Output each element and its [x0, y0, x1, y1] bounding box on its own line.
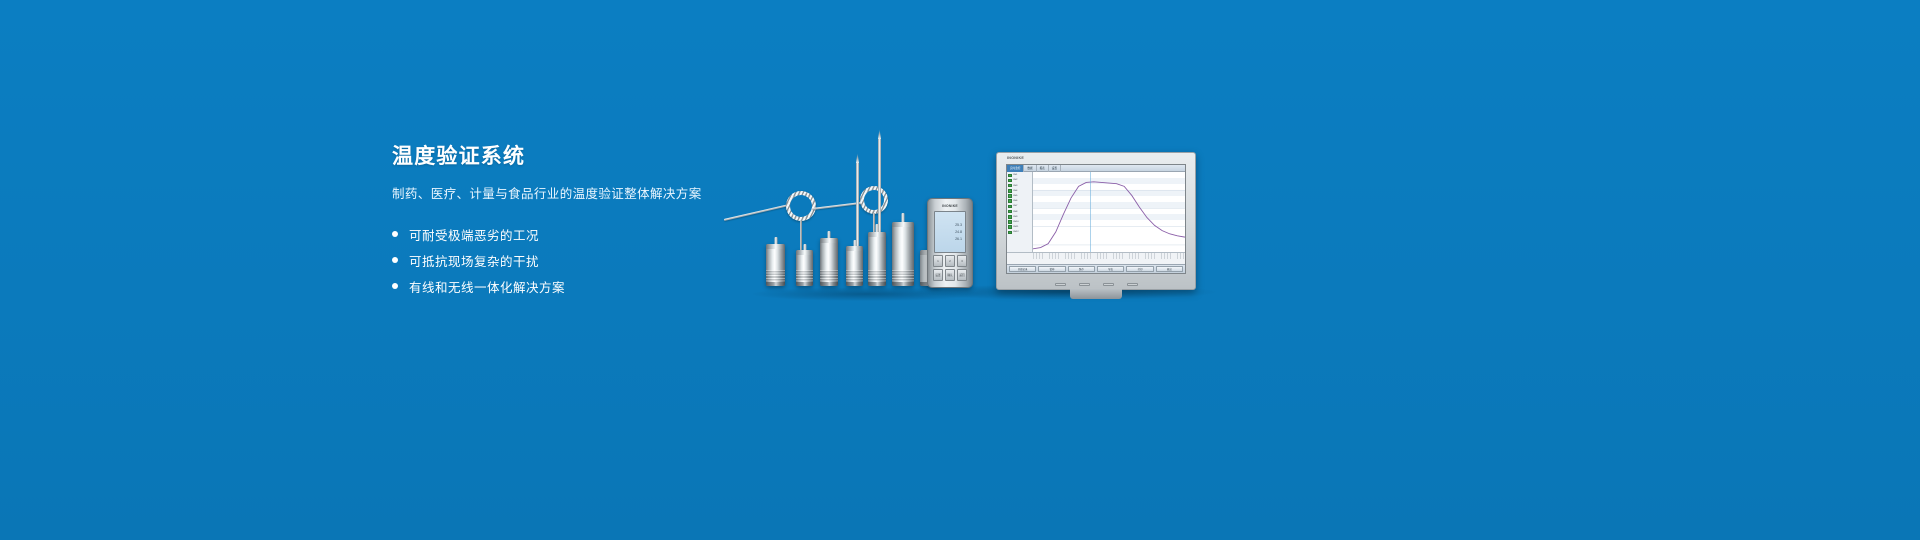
- list-item-label: 可耐受极端恶劣的工况: [409, 225, 539, 244]
- channel-label: CH11: [1013, 226, 1018, 228]
- panel-button[interactable]: [1055, 283, 1066, 286]
- channel-indicator: [1008, 189, 1012, 193]
- reader-key[interactable]: 3: [957, 255, 967, 267]
- list-item[interactable]: CH7: [1008, 204, 1031, 209]
- reader-key[interactable]: 确认: [945, 269, 955, 281]
- save-button[interactable]: 保存: [1068, 266, 1095, 272]
- list-item-label: 有线和无线一体化解决方案: [409, 277, 565, 296]
- export-button[interactable]: 导出: [1097, 266, 1124, 272]
- reader-key[interactable]: 2: [945, 255, 955, 267]
- software-body: CH1 CH2 CH3 CH4 CH5: [1007, 172, 1185, 252]
- bullet-dot-icon: [392, 283, 398, 289]
- bullet-dot-icon: [392, 257, 398, 263]
- channel-indicator: [1008, 179, 1012, 183]
- channel-label: CH6: [1013, 200, 1017, 202]
- list-item[interactable]: CH3: [1008, 183, 1031, 188]
- panel-hardware-buttons[interactable]: [997, 283, 1195, 286]
- chart-plot-area: [1033, 172, 1185, 263]
- reader-brand: INONIKE: [928, 204, 972, 208]
- reader-key[interactable]: 返回: [957, 269, 967, 281]
- list-item[interactable]: CH5: [1008, 194, 1031, 199]
- channel-indicator: [1008, 184, 1012, 188]
- channel-label: CH8: [1013, 211, 1017, 213]
- list-item[interactable]: CH1: [1008, 173, 1031, 178]
- pause-button[interactable]: 暂停: [1038, 266, 1065, 272]
- channel-indicator: [1008, 194, 1012, 198]
- tab-data[interactable]: 数据: [1024, 165, 1036, 172]
- list-item[interactable]: CH2: [1008, 178, 1031, 183]
- list-item[interactable]: CH6: [1008, 199, 1031, 204]
- panel-brand: INONIKE: [1007, 156, 1024, 160]
- product-photo-group: INONIKE 25.3 24.8 26.1 1 2 3 设置 确认 返回 IN…: [700, 120, 1220, 320]
- channel-indicator: [1008, 231, 1012, 235]
- channel-indicator: [1008, 210, 1012, 214]
- axis-ticks: [1033, 253, 1185, 259]
- list-item[interactable]: CH12: [1008, 230, 1031, 235]
- list-item[interactable]: CH11: [1008, 225, 1031, 230]
- chart-timeaxis: [1007, 252, 1185, 264]
- channel-label: CH1: [1013, 174, 1017, 176]
- promo-banner: 温度验证系统 制药、医疗、计量与食品行业的温度验证整体解决方案 可耐受极端恶劣的…: [0, 0, 1920, 540]
- tab-report[interactable]: 报表: [1037, 165, 1049, 172]
- bullet-dot-icon: [392, 231, 398, 237]
- software-screen[interactable]: 实时监控 数据 报表 设置 CH1 CH2: [1006, 164, 1186, 274]
- channel-indicator: [1008, 220, 1012, 224]
- list-item[interactable]: CH4: [1008, 189, 1031, 194]
- channel-label: CH12: [1013, 231, 1019, 233]
- reader-reading: 25.3: [938, 223, 962, 227]
- panel-pc[interactable]: INONIKE 实时监控 数据 报表 设置 CH1 CH2: [996, 152, 1196, 290]
- channel-label: CH10: [1013, 221, 1019, 223]
- reader-reading: 26.1: [938, 237, 962, 241]
- data-logger: [892, 222, 914, 286]
- handheld-reader[interactable]: INONIKE 25.3 24.8 26.1 1 2 3 设置 确认 返回: [927, 198, 973, 288]
- channel-indicator: [1008, 215, 1012, 219]
- temperature-chart[interactable]: [1033, 172, 1185, 252]
- list-item[interactable]: CH8: [1008, 209, 1031, 214]
- software-tabbar[interactable]: 实时监控 数据 报表 设置: [1007, 165, 1185, 172]
- data-logger: [868, 232, 886, 286]
- software-toolbar[interactable]: 开始记录 暂停 保存 导出 打印 退出: [1007, 264, 1185, 273]
- channel-label: CH5: [1013, 195, 1017, 197]
- list-item-label: 可抵抗现场复杂的干扰: [409, 251, 539, 270]
- panel-button[interactable]: [1127, 283, 1138, 286]
- channel-label: CH3: [1013, 185, 1017, 187]
- channel-label: CH2: [1013, 179, 1017, 181]
- panel-stand: [1070, 289, 1122, 299]
- channel-label: CH4: [1013, 190, 1017, 192]
- channel-indicator: [1008, 205, 1012, 209]
- channel-indicator: [1008, 225, 1012, 229]
- reader-keypad[interactable]: 1 2 3 设置 确认 返回: [933, 255, 967, 281]
- data-logger: [796, 250, 813, 286]
- reader-lcd-display: 25.3 24.8 26.1: [934, 211, 966, 253]
- list-item[interactable]: CH10: [1008, 220, 1031, 225]
- panel-button[interactable]: [1103, 283, 1114, 286]
- tab-settings[interactable]: 设置: [1049, 165, 1061, 172]
- data-logger: [820, 238, 838, 286]
- print-button[interactable]: 打印: [1126, 266, 1153, 272]
- reader-key[interactable]: 设置: [933, 269, 943, 281]
- channel-list[interactable]: CH1 CH2 CH3 CH4 CH5: [1007, 172, 1033, 252]
- channel-indicator: [1008, 174, 1012, 178]
- start-record-button[interactable]: 开始记录: [1009, 266, 1036, 272]
- tab-realtime[interactable]: 实时监控: [1007, 165, 1024, 172]
- data-logger: [846, 246, 863, 286]
- list-item[interactable]: CH9: [1008, 215, 1031, 220]
- reader-reading: 24.8: [938, 230, 962, 234]
- channel-indicator: [1008, 199, 1012, 203]
- reader-key[interactable]: 1: [933, 255, 943, 267]
- channel-label: CH9: [1013, 216, 1017, 218]
- data-logger: [766, 244, 785, 286]
- exit-button[interactable]: 退出: [1156, 266, 1183, 272]
- panel-button[interactable]: [1079, 283, 1090, 286]
- channel-label: CH7: [1013, 205, 1017, 207]
